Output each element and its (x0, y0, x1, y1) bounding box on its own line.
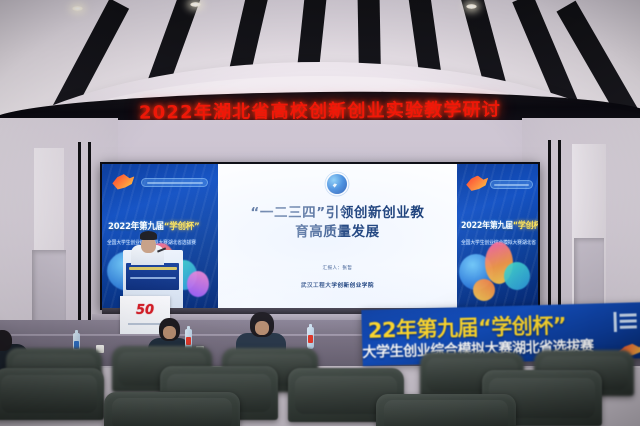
panel-headline-prefix: 2022年第九届 (461, 220, 513, 230)
screen-content: 2022年第九届“学创杯” 全国大学生创业综合模拟大赛湖北省选拔赛 (102, 164, 538, 308)
university-emblem-icon (327, 174, 347, 194)
speaker-hair (140, 231, 157, 240)
person-head (159, 318, 180, 341)
side-panel-right: 2022年第九届“学创杯” 全国大学生创业综合模拟大赛湖北省 (457, 164, 538, 308)
panel-pill-banner (141, 178, 208, 187)
person-face (163, 326, 176, 339)
person-head (0, 330, 12, 351)
panel-artwork (457, 239, 538, 308)
projection-screen: 2022年第九届“学创杯” 全国大学生创业综合模拟大赛湖北省选拔赛 (100, 162, 540, 310)
spotlight (72, 6, 83, 11)
conference-hall-photo: 2022年湖北省高校创新创业实验教学研讨 2022年第九届“学创杯” 全国大学生… (0, 0, 640, 426)
panel-headline-prefix: 2022年第九届 (108, 222, 164, 232)
slide-title-line1: “一二三四”引领创新创业教 (237, 204, 438, 223)
presentation-slide: “一二三四”引领创新创业教 育高质量发展 汇报人：张哲 武汉工程大学创新创业学院 (218, 164, 458, 308)
podium-banner-line1 (129, 267, 177, 270)
anniversary-50-logo: 50 (132, 302, 158, 320)
water-bottle (307, 327, 314, 349)
panel-headline-highlight: “学创杯” (513, 220, 538, 230)
rollup-banner-rule (128, 323, 162, 325)
spotlight (190, 2, 201, 7)
spotlight (466, 4, 477, 9)
slide-presenter: 汇报人：张哲 (218, 265, 458, 271)
auditorium-seat (376, 394, 516, 426)
slide-organization: 武汉工程大学创新创业学院 (218, 281, 458, 289)
podium-banner-line2 (130, 277, 175, 279)
auditorium-seat (0, 368, 104, 420)
panel-pill-banner (490, 180, 534, 189)
art-blob (187, 271, 209, 297)
side-panel-left: 2022年第九届“学创杯” 全国大学生创业综合模拟大赛湖北省选拔赛 (102, 164, 218, 308)
panel-headline: 2022年第九届“学创杯” (461, 219, 531, 231)
panel-headline: 2022年第九届“学创杯” (108, 219, 208, 232)
panel-headline-highlight: “学创杯” (164, 222, 200, 232)
person-face (255, 321, 269, 335)
person-head (250, 312, 274, 337)
slide-title: “一二三四”引领创新创业教 育高质量发展 (237, 204, 438, 242)
podium-banner (126, 263, 179, 289)
auditorium-seat (104, 392, 240, 426)
banner-bracket-icon (613, 311, 636, 332)
art-blob (473, 279, 495, 301)
slide-title-line2: 育高质量发展 (237, 223, 438, 242)
art-blob (504, 262, 530, 290)
